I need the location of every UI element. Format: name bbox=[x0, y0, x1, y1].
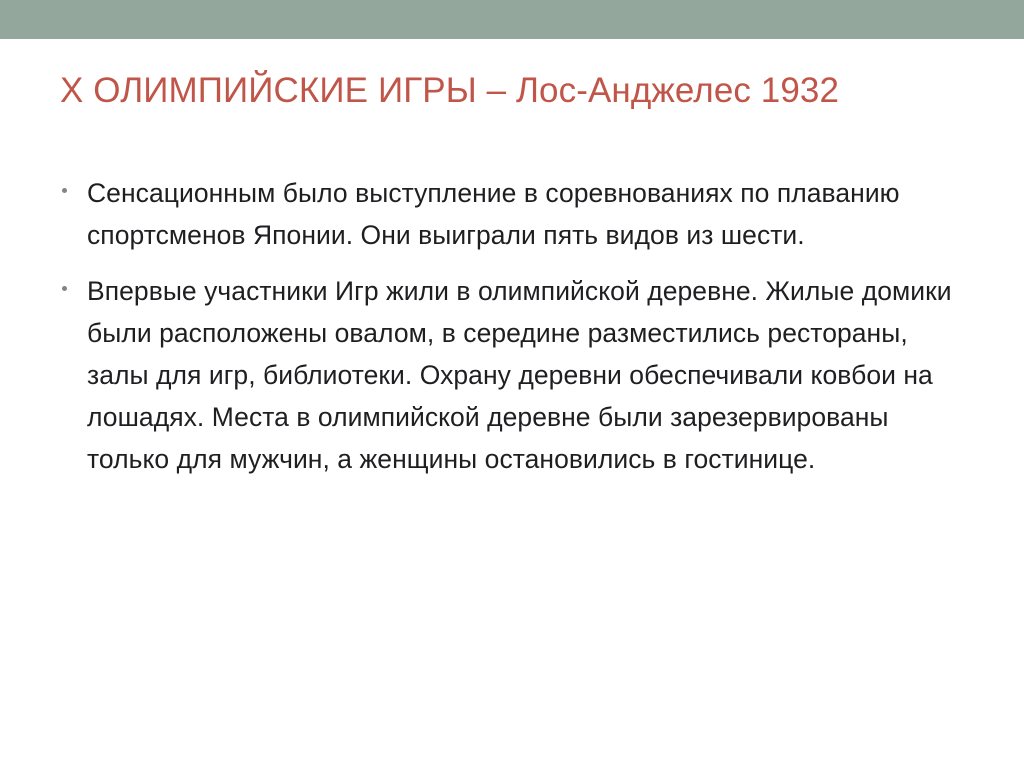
page-title: X ОЛИМПИЙСКИЕ ИГРЫ – Лос-Анджелес 1932 bbox=[60, 68, 960, 113]
slide-header-band bbox=[0, 0, 1024, 39]
slide-body-content: Сенсационным было выступление в соревнов… bbox=[55, 172, 975, 480]
list-item-text: Впервые участники Игр жили в олимпийской… bbox=[87, 270, 975, 480]
list-item: Сенсационным было выступление в соревнов… bbox=[55, 172, 975, 256]
bullet-dot-icon bbox=[62, 188, 67, 193]
slide-title-block: X ОЛИМПИЙСКИЕ ИГРЫ – Лос-Анджелес 1932 bbox=[60, 68, 960, 113]
bullet-dot-icon bbox=[62, 286, 67, 291]
list-item-text: Сенсационным было выступление в соревнов… bbox=[87, 172, 975, 256]
presentation-slide: X ОЛИМПИЙСКИЕ ИГРЫ – Лос-Анджелес 1932 С… bbox=[0, 0, 1024, 768]
list-item: Впервые участники Игр жили в олимпийской… bbox=[55, 270, 975, 480]
